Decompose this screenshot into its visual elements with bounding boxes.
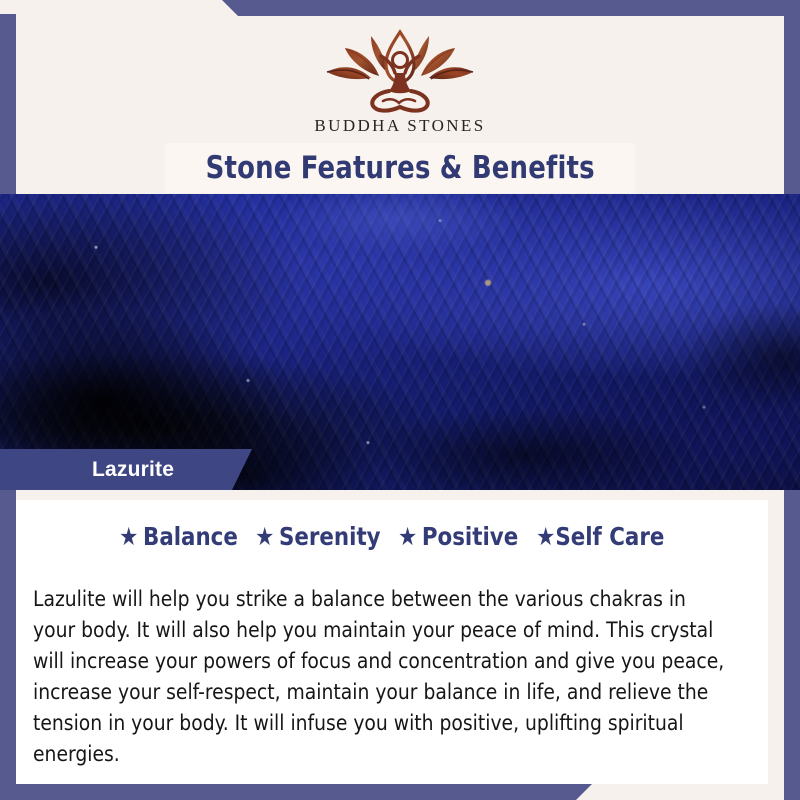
keyword-label: Serenity: [279, 522, 381, 551]
lotus-meditation-icon: [315, 28, 485, 114]
keyword-row: ★ Balance ★ Serenity ★ Positive ★ Self C…: [16, 522, 768, 551]
keyword-balance: ★ Balance: [119, 522, 238, 551]
stone-name-tag: Lazurite: [0, 449, 252, 490]
keyword-self-care: ★ Self Care: [527, 522, 664, 551]
keyword-positive: ★ Positive: [390, 522, 519, 551]
brand-header: BUDDHA STONES: [16, 16, 784, 151]
keyword-label: Self Care: [555, 522, 664, 551]
keyword-serenity: ★ Serenity: [247, 522, 381, 551]
frame-band-top: [0, 0, 800, 16]
star-icon: ★: [398, 524, 417, 549]
stone-photo-speckle-layer: [0, 194, 800, 490]
star-icon: ★: [536, 524, 555, 549]
stone-name-label: Lazurite: [92, 458, 174, 482]
content-card: ★ Balance ★ Serenity ★ Positive ★ Self C…: [16, 490, 768, 763]
page-title: Stone Features & Benefits: [205, 150, 594, 186]
keyword-label: Balance: [143, 522, 238, 551]
page-title-banner: Stone Features & Benefits: [165, 143, 635, 193]
card-top-strip: [16, 490, 768, 500]
stone-description: Lazulite will help you strike a balance …: [33, 584, 726, 770]
keyword-label: Positive: [422, 522, 518, 551]
star-icon: ★: [255, 524, 274, 549]
stone-feature-poster: Lazurite: [0, 0, 800, 800]
star-icon: ★: [119, 524, 138, 549]
brand-name: BUDDHA STONES: [16, 116, 784, 136]
frame-band-bottom: [0, 784, 800, 800]
stone-photo: [0, 194, 800, 490]
